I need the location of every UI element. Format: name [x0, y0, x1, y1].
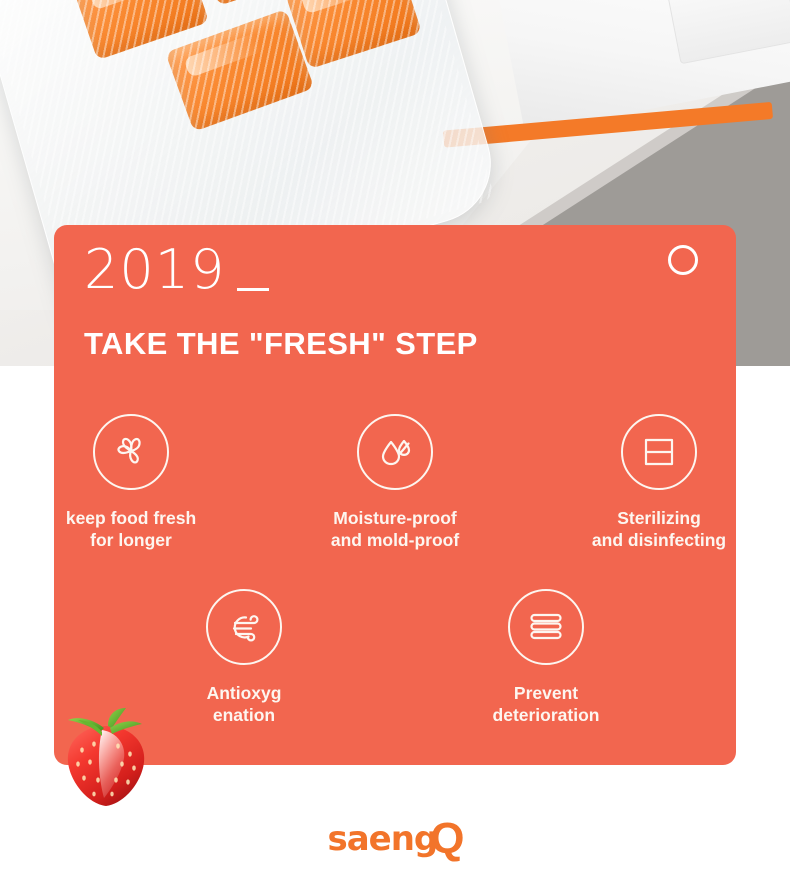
feature-label: Prevent deterioration: [493, 682, 600, 727]
year-heading: 2019: [84, 243, 269, 297]
wind-icon: [206, 589, 282, 665]
page-title: TAKE THE "FRESH" STEP: [84, 326, 478, 362]
ring-icon: [668, 245, 698, 275]
feature-panel: 2019 TAKE THE "FRESH" STEP keep food fre…: [54, 225, 736, 765]
strawberry-image: [52, 706, 160, 810]
year-value: 2019: [84, 243, 225, 297]
feature-label: Antioxyg enation: [207, 682, 282, 727]
brand-name: saeng: [327, 819, 437, 859]
feature-prevent-deterioration[interactable]: Prevent deterioration: [453, 589, 639, 727]
split-box-icon: [621, 414, 697, 490]
vacuum-sealer-appliance: [496, 0, 790, 133]
feature-keep-food-fresh[interactable]: keep food fresh for longer: [54, 414, 208, 552]
feature-label: Moisture-proof and mold-proof: [331, 507, 459, 552]
feature-moisture-proof[interactable]: Moisture-proof and mold-proof: [318, 414, 472, 552]
stacked-bars-icon: [508, 589, 584, 665]
feature-sterilizing[interactable]: Sterilizing and disinfecting: [582, 414, 736, 552]
droplet-no-icon: [357, 414, 433, 490]
feature-antioxygenation[interactable]: Antioxyg enation: [151, 589, 337, 727]
feature-row-primary: keep food fresh for longer Moisture-proo…: [54, 414, 736, 552]
feature-label: Sterilizing and disinfecting: [592, 507, 726, 552]
product-banner-page: 2019 TAKE THE "FRESH" STEP keep food fre…: [0, 0, 790, 878]
brand-logo: saeng Q: [0, 814, 790, 864]
feature-label: keep food fresh for longer: [66, 507, 196, 552]
fan-icon: [93, 414, 169, 490]
year-underline: [237, 288, 269, 291]
